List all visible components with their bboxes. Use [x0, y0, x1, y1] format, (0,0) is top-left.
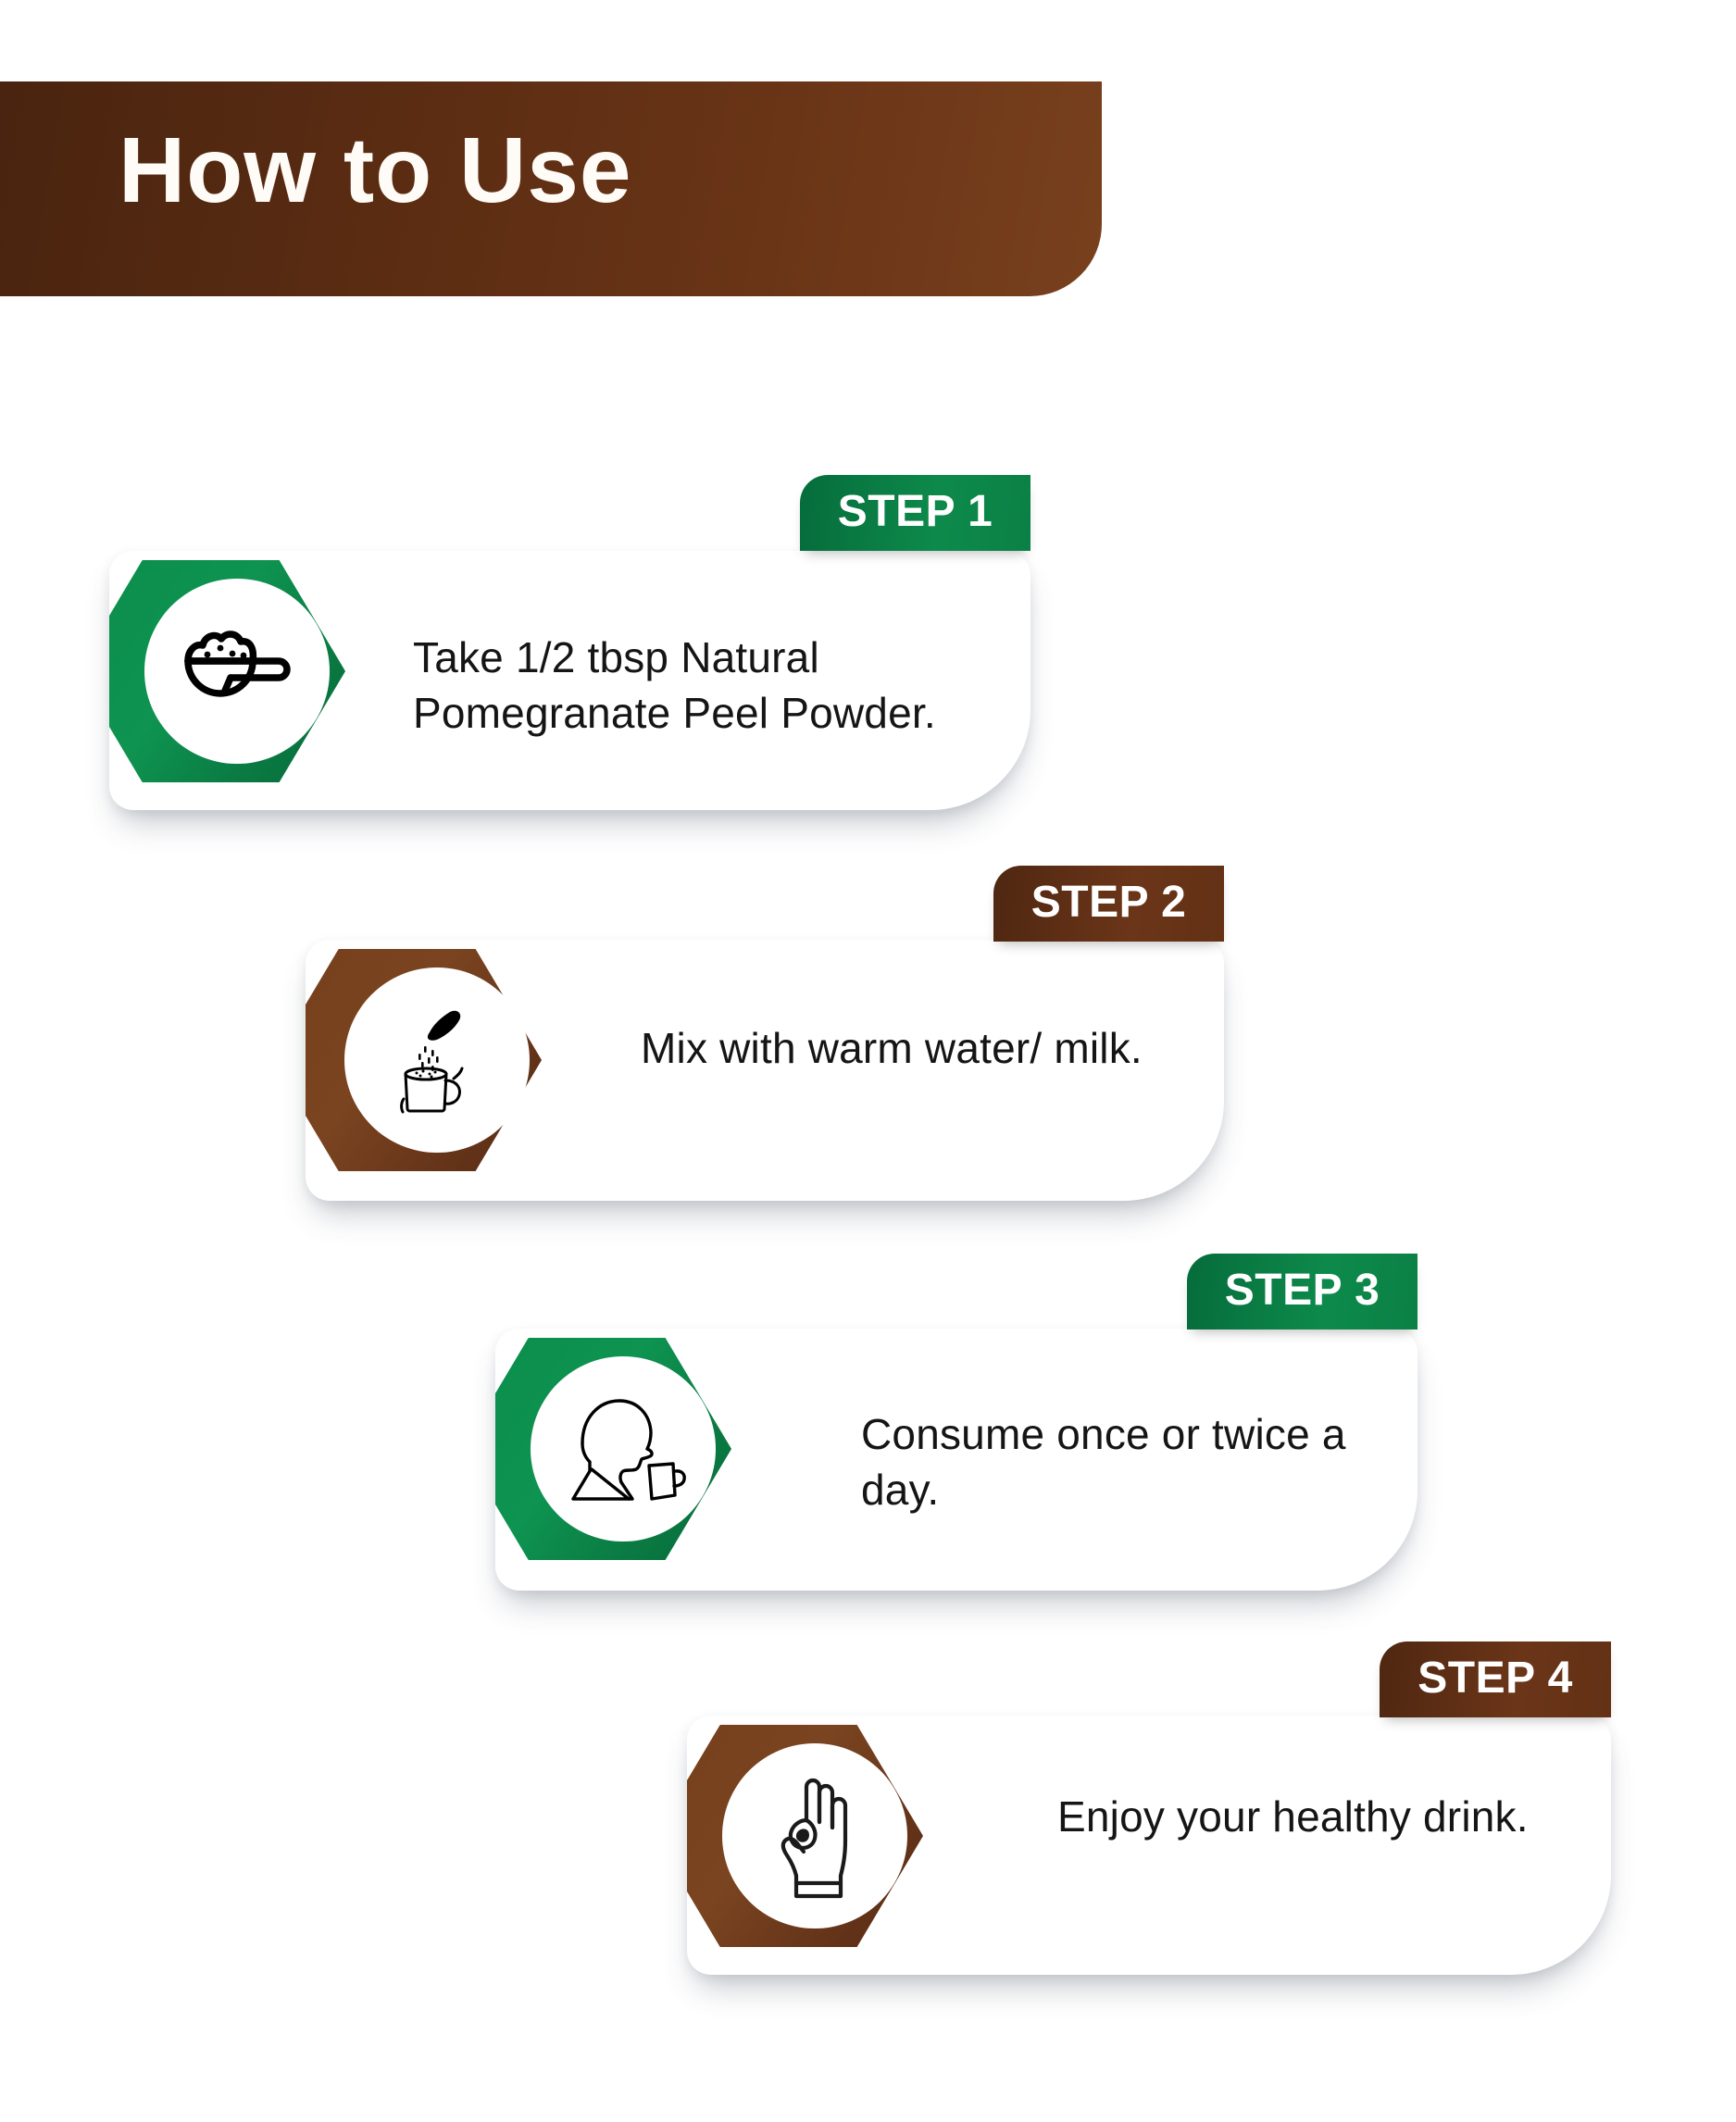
step-icon-circle-2 [344, 967, 530, 1153]
how-to-use-infographic: How to Use STEP 1 [0, 0, 1736, 2122]
step-text-1: Take 1/2 tbsp Natural Pomegranate Peel P… [413, 630, 1005, 742]
step-badge-2: STEP 2 [993, 866, 1224, 942]
step-text-2: Mix with warm water/ milk. [641, 1021, 1196, 1077]
header-banner: How to Use [0, 81, 1102, 296]
spoon-pouring-into-mug-icon [378, 1001, 496, 1119]
step-badge-label-1: STEP 1 [838, 486, 993, 537]
person-drinking-from-mug-icon [558, 1390, 688, 1508]
step-badge-4: STEP 4 [1380, 1641, 1611, 1717]
step-text-3: Consume once or twice a day. [861, 1407, 1398, 1518]
step-badge-1: STEP 1 [800, 475, 1030, 551]
step-badge-label-3: STEP 3 [1225, 1265, 1380, 1316]
step-icon-circle-4 [722, 1743, 907, 1929]
step-badge-label-2: STEP 2 [1031, 877, 1187, 928]
step-badge-3: STEP 3 [1187, 1254, 1418, 1329]
step-icon-circle-3 [531, 1356, 716, 1542]
measuring-scoop-powder-icon [177, 619, 297, 723]
step-text-4: Enjoy your healthy drink. [1057, 1790, 1594, 1845]
step-icon-circle-1 [144, 579, 330, 764]
step-badge-label-4: STEP 4 [1418, 1653, 1573, 1704]
page-title: How to Use [119, 124, 631, 217]
ok-hand-gesture-icon [763, 1772, 867, 1900]
